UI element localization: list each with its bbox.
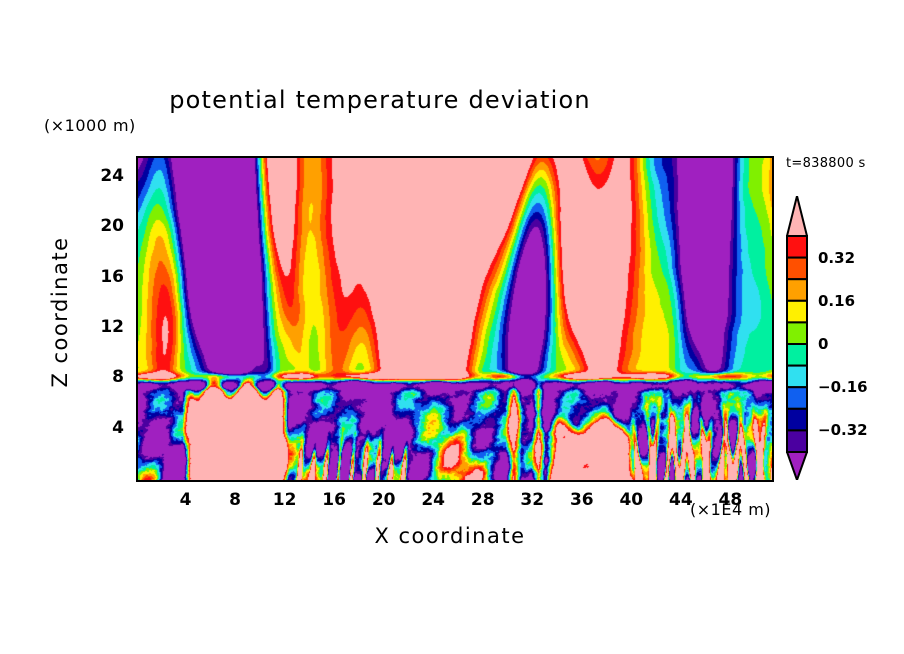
x-tick-label: 16 xyxy=(322,490,346,510)
x-tick-label: 20 xyxy=(372,490,396,510)
x-tick-label: 24 xyxy=(421,490,445,510)
y-tick-label: 12 xyxy=(94,317,124,337)
x-tick-label: 36 xyxy=(570,490,594,510)
colorbar-tick-label: −0.32 xyxy=(818,421,868,439)
timestamp-annotation: t=838800 s xyxy=(786,156,866,171)
colorbar-tick-label: 0.16 xyxy=(818,292,855,310)
y-tick-label: 20 xyxy=(94,216,124,236)
colorbar-tick-label: 0.32 xyxy=(818,249,855,267)
x-tick-label: 8 xyxy=(229,490,241,510)
x-tick-label: 4 xyxy=(180,490,192,510)
colorbar-swatches xyxy=(786,196,808,480)
y-tick-label: 4 xyxy=(94,418,124,438)
colorbar xyxy=(786,196,808,480)
y-tick-label: 8 xyxy=(94,367,124,387)
x-tick-label: 32 xyxy=(520,490,544,510)
x-tick-label: 28 xyxy=(471,490,495,510)
colorbar-tick-label: 0 xyxy=(818,335,828,353)
y-tick-label: 24 xyxy=(94,166,124,186)
x-tick-label: 44 xyxy=(669,490,693,510)
contour-plot-area xyxy=(136,156,774,482)
contour-field-canvas xyxy=(138,158,772,480)
x-tick-label: 12 xyxy=(273,490,297,510)
y-axis-title: Z coordinate xyxy=(48,222,72,402)
x-tick-label: 40 xyxy=(619,490,643,510)
x-tick-label: 48 xyxy=(719,490,743,510)
y-axis-unit-label: (×1000 m) xyxy=(44,116,136,135)
x-axis-title: X coordinate xyxy=(250,524,650,548)
colorbar-tick-label: −0.16 xyxy=(818,378,868,396)
page-title: potential temperature deviation xyxy=(0,86,760,114)
y-tick-label: 16 xyxy=(94,267,124,287)
